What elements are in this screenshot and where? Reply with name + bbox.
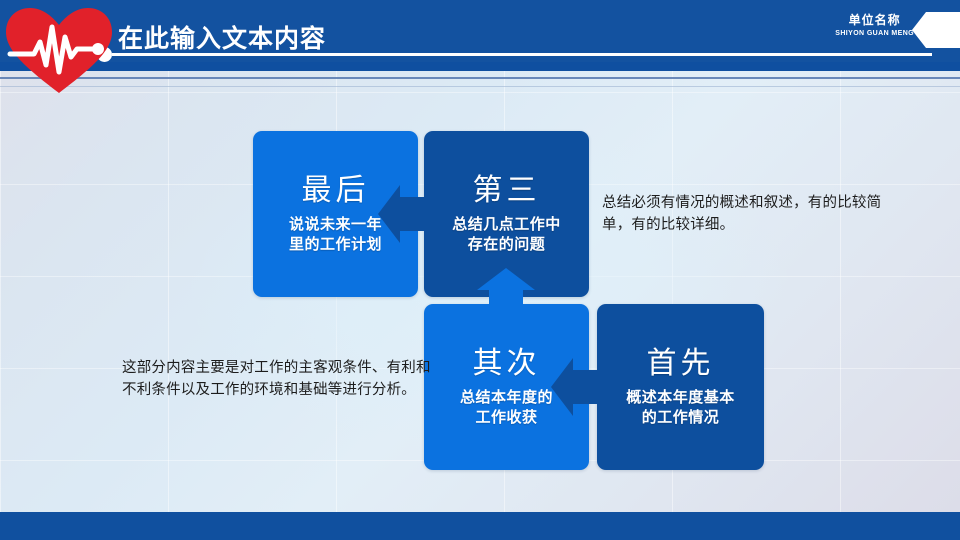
- flow-node-third-title: 第三: [473, 174, 541, 207]
- flow-node-first-subtitle: 概述本年度基本 的工作情况: [626, 387, 735, 428]
- annotation-right-paragraph: 总结必须有情况的概述和叙述，有的比较简单，有的比较详细。: [602, 192, 894, 237]
- arrow-up-icon-second-to-third: [477, 268, 535, 314]
- flow-node-first-subtitle-line1: 概述本年度基本: [626, 387, 735, 407]
- process-flow-diagram: 最后 说说未来一年 里的工作计划 第三 总结几点工作中 存在的问题 其次 总结本…: [0, 0, 960, 540]
- flow-node-last-title: 最后: [302, 174, 370, 207]
- annotation-left-paragraph: 这部分内容主要是对工作的主客观条件、有利和不利条件以及工作的环境和基础等进行分析…: [122, 357, 434, 402]
- flow-node-second-subtitle-line1: 总结本年度的: [460, 387, 553, 407]
- flow-node-first-subtitle-line2: 的工作情况: [626, 407, 735, 427]
- flow-node-last-subtitle: 说说未来一年 里的工作计划: [289, 214, 382, 255]
- flow-node-third-subtitle-line2: 存在的问题: [452, 234, 561, 254]
- flow-node-last-subtitle-line1: 说说未来一年: [289, 214, 382, 234]
- flow-node-second-subtitle: 总结本年度的 工作收获: [460, 387, 553, 428]
- flow-node-second-title: 其次: [473, 347, 541, 380]
- flow-node-last-subtitle-line2: 里的工作计划: [289, 234, 382, 254]
- arrow-left-icon-third-to-last: [378, 185, 424, 243]
- flow-node-third-subtitle-line1: 总结几点工作中: [452, 214, 561, 234]
- footer-bar: [0, 512, 960, 540]
- flow-node-first[interactable]: 首先 概述本年度基本 的工作情况: [597, 304, 764, 470]
- arrow-left-icon-first-to-second: [551, 358, 597, 416]
- flow-node-second-subtitle-line2: 工作收获: [460, 407, 553, 427]
- flow-node-first-title: 首先: [647, 347, 715, 380]
- flow-node-third-subtitle: 总结几点工作中 存在的问题: [452, 214, 561, 255]
- slide-canvas: 在此输入文本内容 单位名称 SHIYON GUAN MENG 最后 说说未来一年…: [0, 0, 960, 540]
